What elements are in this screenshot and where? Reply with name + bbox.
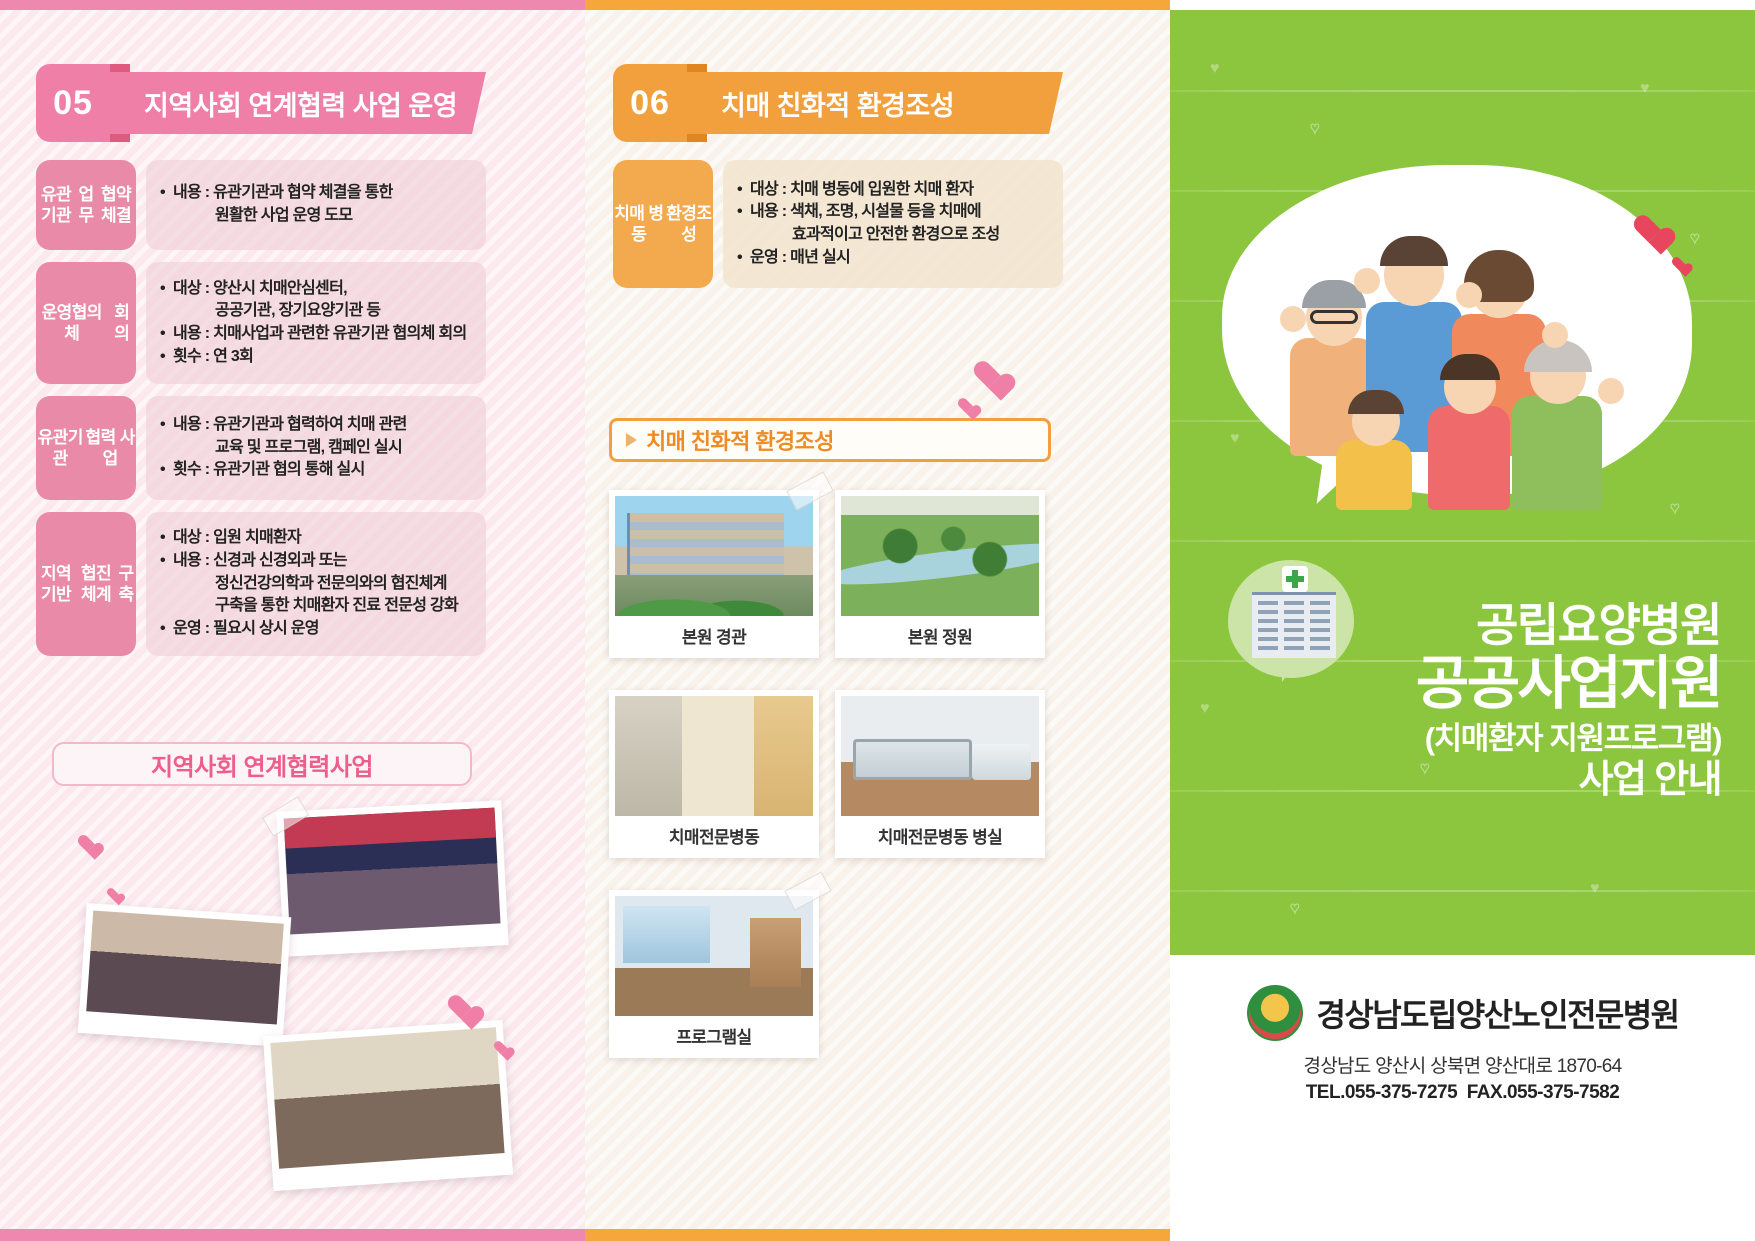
info-row-body: •내용 : 유관기관과 협력하여 치매 관련 교육 및 프로그램, 캠페인 실시… <box>146 396 486 500</box>
info-row: 유관기관 협력 사업 •내용 : 유관기관과 협력하여 치매 관련 교육 및 프… <box>36 396 486 500</box>
photo-caption: 프로그램실 <box>615 1016 813 1054</box>
bullet-dot: • <box>737 201 750 224</box>
info-row: 지역기반 협진체계 구축 •대상 : 입원 치매환자 •내용 : 신경과 신경외… <box>36 512 486 656</box>
bullet-text: 효과적이고 안전한 환경으로 조성 <box>792 224 1000 247</box>
hospital-emblem-icon <box>1247 985 1303 1041</box>
info-row-label: 유관기관 업무 협약체결 <box>36 160 136 250</box>
bullet-line: •대상 : 치매 병동에 입원한 치매 환자 <box>737 179 1049 202</box>
bullet-text: 내용 : 치매사업과 관련한 유관기관 협의체 회의 <box>173 323 466 346</box>
bullet-dot: • <box>160 459 173 482</box>
bullet-text: 정신건강의학과 전문의와의 협진체계 <box>215 573 447 596</box>
bullet-line: •내용 : 신경과 신경외과 또는 <box>160 550 472 573</box>
bullet-line: •내용 : 유관기관과 협력하여 치매 관련 <box>160 414 472 437</box>
info-row-label: 치매 병동 환경조성 <box>613 160 713 288</box>
top-accent-bar-orange <box>585 0 1170 10</box>
bullet-line: •횟수 : 유관기관 협의 통해 실시 <box>160 459 472 482</box>
heart-icon <box>448 996 476 1021</box>
bullet-text: 대상 : 양산시 치매안심센터, <box>173 278 347 301</box>
photo-card: 프로그램실 <box>609 890 819 1058</box>
bullet-line: •횟수 : 연 3회 <box>160 346 472 369</box>
photo-card: 본원 경관 <box>609 490 819 658</box>
bullet-text: 내용 : 유관기관과 협력하여 치매 관련 <box>173 414 407 437</box>
medical-cross-icon <box>1282 566 1308 592</box>
cover-title-line1: 공립요양병원 <box>1416 600 1721 651</box>
bullet-text: 횟수 : 연 3회 <box>173 346 253 369</box>
bullet-dot: • <box>737 247 750 270</box>
bullet-text: 운영 : 매년 실시 <box>750 247 850 270</box>
top-accent-bar-pink <box>0 0 585 10</box>
photo-image <box>841 696 1039 816</box>
photo-caption: 치매전문병동 <box>615 816 813 854</box>
community-program-banner: 지역사회 연계협력사업 <box>52 742 472 786</box>
panel-cover: ♥ ♥ ♥ ♥ ♥ ♥ ♥ ♥ ♥ ♥ <box>1170 0 1755 1241</box>
family-illustration <box>1280 210 1640 510</box>
brochure-page: 05 지역사회 연계협력 사업 운영 유관기관 업무 협약체결 •내용 : 유관… <box>0 0 1755 1241</box>
label-line: 회의 <box>107 302 136 345</box>
bullet-text: 교육 및 프로그램, 캠페인 실시 <box>215 437 402 460</box>
footer-name-row: 경상남도립양산노인전문병원 <box>1170 985 1755 1041</box>
bullet-text: 공공기관, 장기요양기관 등 <box>215 300 380 323</box>
flower-icon <box>974 363 1006 392</box>
bullet-dot: • <box>160 323 173 346</box>
flower-small-icon <box>958 399 976 415</box>
section-05-header: 05 지역사회 연계협력 사업 운영 <box>36 72 486 134</box>
photo-caption: 치매전문병동 병실 <box>841 816 1039 854</box>
bullet-text: 구축을 통한 치매환자 진료 전문성 강화 <box>215 595 458 618</box>
photo-card: 치매전문병동 <box>609 690 819 858</box>
cover-title-line3: (치매환자 지원프로그램) <box>1416 721 1721 757</box>
label-line: 유관기관 <box>36 427 84 470</box>
info-row-label: 지역기반 협진체계 구축 <box>36 512 136 656</box>
section-06-title: 치매 친화적 환경조성 <box>687 72 1063 134</box>
footer-fax-label: FAX. <box>1467 1082 1507 1103</box>
info-row: 치매 병동 환경조성 •대상 : 치매 병동에 입원한 치매 환자 •내용 : … <box>613 160 1063 288</box>
bullet-line: 구축을 통한 치매환자 진료 전문성 강화 <box>160 595 472 618</box>
info-row-label: 유관기관 협력 사업 <box>36 396 136 500</box>
photo-section-subheader: 치매 친화적 환경조성 <box>609 418 1051 462</box>
footer-tel-number: 055-375-7275 <box>1345 1082 1457 1103</box>
label-line: 운영협의체 <box>36 302 107 345</box>
bullet-line: 효과적이고 안전한 환경으로 조성 <box>737 224 1049 247</box>
section-05-number: 05 <box>36 64 110 142</box>
panel-section-05: 05 지역사회 연계협력 사업 운영 유관기관 업무 협약체결 •내용 : 유관… <box>0 0 585 1241</box>
bullet-text: 횟수 : 유관기관 협의 통해 실시 <box>173 459 365 482</box>
bullet-dot: • <box>160 527 173 550</box>
photo-caption: 본원 정원 <box>841 616 1039 654</box>
info-row-label: 운영협의체 회의 <box>36 262 136 384</box>
label-line: 환경조성 <box>665 203 713 246</box>
bullet-dot: • <box>160 618 173 641</box>
info-row: 유관기관 업무 협약체결 •내용 : 유관기관과 협약 체결을 통한 원활한 사… <box>36 160 486 250</box>
bullet-line: 교육 및 프로그램, 캠페인 실시 <box>160 437 472 460</box>
photo-collage-item <box>78 903 292 1047</box>
label-line: 치매 병동 <box>613 203 665 246</box>
top-accent-bar-white <box>1170 0 1755 10</box>
info-row-body: •대상 : 입원 치매환자 •내용 : 신경과 신경외과 또는 정신건강의학과 … <box>146 512 486 656</box>
bullet-dot: • <box>160 550 173 573</box>
bullet-line: 정신건강의학과 전문의와의 협진체계 <box>160 573 472 596</box>
bullet-dot: • <box>160 414 173 437</box>
photo-card: 본원 정원 <box>835 490 1045 658</box>
bullet-dot: • <box>160 278 173 301</box>
footer-contact: TEL.055-375-7275 FAX.055-375-7582 <box>1170 1082 1755 1104</box>
bullet-text: 내용 : 색채, 조명, 시설물 등을 치매에 <box>750 201 981 224</box>
footer-tel-label: TEL. <box>1306 1082 1345 1103</box>
bottom-accent-bar-pink <box>0 1229 585 1241</box>
photo-image <box>86 910 284 1024</box>
bullet-text: 내용 : 유관기관과 협약 체결을 통한 <box>173 182 393 205</box>
photo-image <box>284 808 501 935</box>
bullet-line: •내용 : 색채, 조명, 시설물 등을 치매에 <box>737 201 1049 224</box>
label-line: 협약체결 <box>96 184 136 227</box>
bullet-dot: • <box>160 346 173 369</box>
bullet-line: •대상 : 양산시 치매안심센터, <box>160 278 472 301</box>
heart-icon <box>1672 258 1688 272</box>
hospital-building-icon <box>1252 592 1336 658</box>
bullet-line: •운영 : 필요시 상시 운영 <box>160 618 472 641</box>
label-line: 유관기관 <box>36 184 76 227</box>
bullet-line: •운영 : 매년 실시 <box>737 247 1049 270</box>
footer-fax-number: 055-375-7582 <box>1507 1082 1619 1103</box>
photo-collage-item <box>276 800 508 957</box>
bullet-dot: • <box>737 179 750 202</box>
label-line: 지역기반 <box>36 563 76 606</box>
bullet-text: 운영 : 필요시 상시 운영 <box>173 618 319 641</box>
photo-card: 치매전문병동 병실 <box>835 690 1045 858</box>
bottom-accent-bar-orange <box>585 1229 1170 1241</box>
info-row: 운영협의체 회의 •대상 : 양산시 치매안심센터, 공공기관, 장기요양기관 … <box>36 262 486 384</box>
cover-title-line4: 사업 안내 <box>1416 759 1721 803</box>
bullet-line: •내용 : 유관기관과 협약 체결을 통한 <box>160 182 472 205</box>
bullet-text: 대상 : 입원 치매환자 <box>173 527 301 550</box>
info-row-body: •대상 : 양산시 치매안심센터, 공공기관, 장기요양기관 등 •내용 : 치… <box>146 262 486 384</box>
cover-footer: 경상남도립양산노인전문병원 경상남도 양산시 상북면 양산대로 1870-64 … <box>1170 985 1755 1104</box>
heart-icon <box>107 889 121 902</box>
photo-image <box>615 496 813 616</box>
bullet-text: 원활한 사업 운영 도모 <box>215 205 352 228</box>
info-row-body: •내용 : 유관기관과 협약 체결을 통한 원활한 사업 운영 도모 <box>146 160 486 250</box>
info-row-body: •대상 : 치매 병동에 입원한 치매 환자 •내용 : 색채, 조명, 시설물… <box>723 160 1063 288</box>
section-05-title: 지역사회 연계협력 사업 운영 <box>110 72 486 134</box>
bullet-line: 공공기관, 장기요양기관 등 <box>160 300 472 323</box>
cover-green-background: ♥ ♥ ♥ ♥ ♥ ♥ ♥ ♥ ♥ ♥ <box>1170 0 1755 955</box>
photo-image <box>615 896 813 1016</box>
footer-hospital-name: 경상남도립양산노인전문병원 <box>1317 990 1679 1036</box>
section-06-header: 06 치매 친화적 환경조성 <box>613 72 1063 134</box>
cover-title-group: 공립요양병원 공공사업지원 (치매환자 지원프로그램) 사업 안내 <box>1416 600 1721 803</box>
bullet-line: 원활한 사업 운영 도모 <box>160 205 472 228</box>
photo-section-subheader-text: 치매 친화적 환경조성 <box>646 424 834 456</box>
triangle-bullet-icon <box>626 433 637 447</box>
footer-address: 경상남도 양산시 상북면 양산대로 1870-64 <box>1170 1051 1755 1078</box>
bullet-line: •내용 : 치매사업과 관련한 유관기관 협의체 회의 <box>160 323 472 346</box>
heart-icon <box>494 1042 510 1056</box>
photo-image <box>615 696 813 816</box>
photo-caption: 본원 경관 <box>615 616 813 654</box>
panel-section-06: 06 치매 친화적 환경조성 치매 병동 환경조성 •대상 : 치매 병동에 입… <box>585 0 1170 1241</box>
cover-title-line2: 공공사업지원 <box>1416 653 1721 716</box>
label-line: 업무 <box>76 184 96 227</box>
section-06-number: 06 <box>613 64 687 142</box>
bullet-line: •대상 : 입원 치매환자 <box>160 527 472 550</box>
label-line: 구축 <box>116 563 136 606</box>
heart-icon <box>78 836 98 854</box>
photo-image <box>841 496 1039 616</box>
bullet-text: 내용 : 신경과 신경외과 또는 <box>173 550 347 573</box>
heart-icon <box>1634 217 1666 246</box>
label-line: 협력 사업 <box>84 427 136 470</box>
bullet-dot: • <box>160 182 173 205</box>
bullet-text: 대상 : 치매 병동에 입원한 치매 환자 <box>750 179 973 202</box>
photo-image <box>270 1027 504 1168</box>
label-line: 협진체계 <box>76 563 116 606</box>
photo-collage-item <box>263 1020 513 1191</box>
